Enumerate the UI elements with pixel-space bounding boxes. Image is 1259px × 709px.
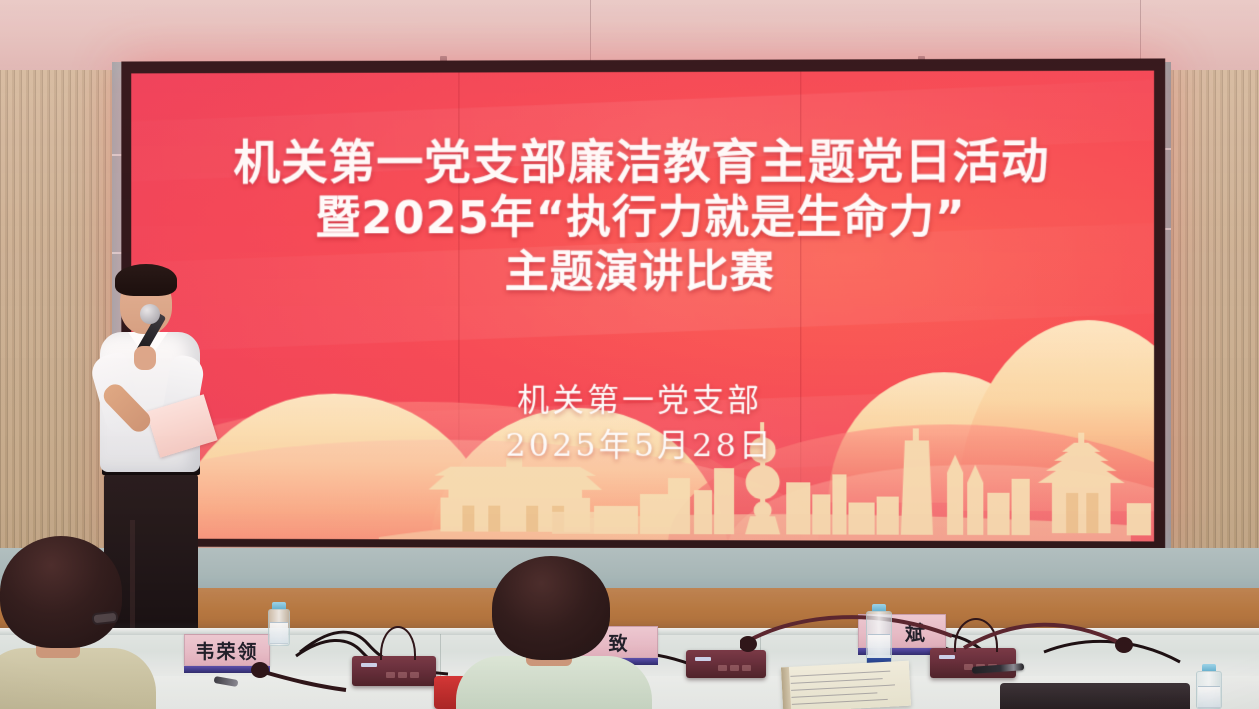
- gooseneck-mic-arm-left: [236, 646, 356, 696]
- audience-center: [478, 556, 626, 709]
- led-title-block: 机关第一党支部廉洁教育主题党日活动 暨2025年“执行力就是生命力” 主题演讲比…: [131, 133, 1154, 300]
- conference-room-scene: 机关第一党支部廉洁教育主题党日活动 暨2025年“执行力就是生命力” 主题演讲比…: [0, 0, 1259, 709]
- led-subtitle-org: 机关第一党支部: [131, 378, 1154, 425]
- led-subtitle-date: 2025年5月28日: [131, 423, 1154, 470]
- dark-laptop-case: [1000, 683, 1190, 709]
- led-title-line-2: 暨2025年“执行力就是生命力”: [131, 191, 1154, 247]
- led-screen-frame: 机关第一党支部廉洁教育主题党日活动 暨2025年“执行力就是生命力” 主题演讲比…: [121, 58, 1165, 549]
- gooseneck-mic-arms: [740, 596, 1140, 666]
- water-bottle-3: [1196, 664, 1222, 709]
- led-title-line-3: 主题演讲比赛: [131, 246, 1154, 300]
- led-screen: 机关第一党支部廉洁教育主题党日活动 暨2025年“执行力就是生命力” 主题演讲比…: [131, 71, 1154, 542]
- conference-mic-1: [352, 656, 436, 686]
- audience-left: [0, 536, 144, 709]
- open-notebook: [781, 661, 911, 709]
- water-bottle-1: [268, 602, 290, 646]
- led-title-line-1: 机关第一党支部廉洁教育主题党日活动: [131, 133, 1154, 192]
- led-subtitle-block: 机关第一党支部 2025年5月28日: [131, 378, 1154, 470]
